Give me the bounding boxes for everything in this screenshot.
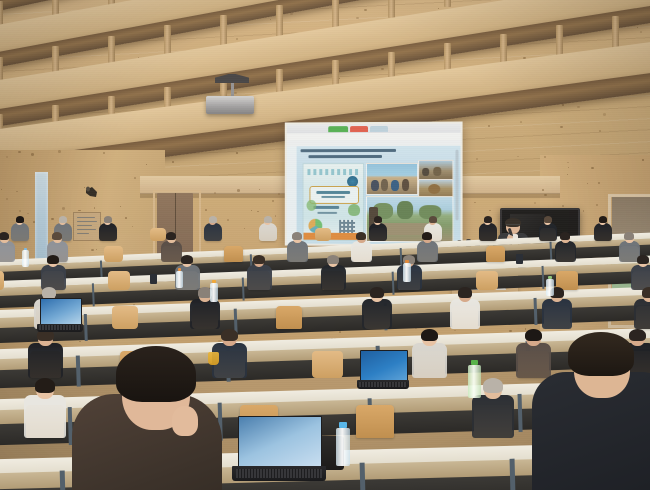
audience-torso: [24, 395, 67, 438]
slide-heading: [301, 149, 451, 160]
laptop-keyboard[interactable]: [39, 325, 81, 330]
projector: [206, 96, 254, 114]
poster-footer-band: [304, 233, 364, 240]
foreground-attendee-right-hair: [568, 332, 634, 376]
laptop-keyboard[interactable]: [359, 382, 408, 388]
slide-photo: [418, 160, 453, 180]
audience-hair: [166, 232, 176, 239]
audience-hair: [483, 378, 503, 393]
audience-hair: [429, 216, 437, 222]
poster-title-band: [309, 186, 359, 204]
audience-hair: [0, 232, 9, 239]
poster-tree-icon: [348, 204, 360, 216]
audience-hair: [42, 287, 56, 298]
audience-hair: [637, 255, 649, 264]
laptop-screen: [360, 350, 408, 382]
page-scrollbar[interactable]: [455, 150, 458, 221]
audience-hair: [599, 216, 607, 222]
poster-ribbon-icon: [307, 169, 359, 175]
smartphone[interactable]: [516, 254, 523, 264]
audience-hair: [421, 329, 438, 341]
audience-torso: [11, 223, 29, 241]
chair-backrest: [108, 271, 130, 290]
chair-backrest: [104, 246, 123, 262]
ceiling-rafter: [388, 0, 395, 18]
browser-tab[interactable]: [328, 126, 348, 132]
audience-torso: [516, 343, 551, 378]
chair-backrest: [312, 351, 343, 378]
bottle-body: [468, 365, 481, 398]
audience-hair: [253, 255, 265, 264]
audience-torso: [204, 223, 222, 241]
audience-torso: [351, 241, 372, 262]
audience-torso: [0, 241, 15, 262]
audience-hair: [356, 232, 366, 239]
audience-hair: [35, 378, 55, 393]
audience-torso: [28, 343, 63, 378]
foreground-attendee-hair: [116, 346, 196, 402]
audience-torso: [479, 223, 497, 241]
poster-qr-code-icon: [339, 220, 355, 234]
browser-tab[interactable]: [350, 126, 368, 132]
audience-torso: [161, 241, 182, 262]
ceiling-rafter: [332, 0, 339, 28]
audience-hair: [16, 216, 24, 222]
browser-tab[interactable]: [370, 125, 388, 131]
laptop-screen: [40, 298, 82, 326]
audience-hair: [624, 232, 634, 239]
laptop-screen: [238, 416, 322, 468]
audience-hair: [525, 329, 542, 341]
chair-backrest: [486, 246, 505, 262]
chair-backrest: [476, 271, 498, 290]
audience-hair: [544, 216, 552, 222]
audience-torso: [190, 299, 220, 329]
bottle-body: [403, 263, 411, 282]
audience-hair: [642, 287, 650, 298]
chair-backrest: [112, 306, 138, 329]
audience-hair: [47, 255, 59, 264]
audience-torso: [634, 299, 650, 329]
audience-hair: [221, 329, 238, 341]
slide-photo: [366, 163, 418, 195]
wall-notice-sign: [73, 212, 101, 241]
audience-torso: [99, 223, 117, 241]
audience-torso: [259, 223, 277, 241]
audience-torso: [539, 223, 557, 241]
audience-torso: [594, 223, 612, 241]
page-sidebar: [287, 146, 297, 243]
drink-cup[interactable]: [208, 352, 219, 365]
audience-torso: [412, 343, 447, 378]
laptop-keyboard[interactable]: [236, 469, 323, 479]
audience-hair: [484, 216, 492, 222]
audience-hair: [292, 232, 302, 239]
loudspeaker-icon: [84, 185, 100, 201]
audience-hair: [104, 216, 112, 222]
audience-hair: [181, 255, 193, 264]
audience-torso: [247, 265, 272, 290]
audience-hair: [209, 216, 217, 222]
audience-torso: [472, 395, 515, 438]
audience-torso: [369, 223, 387, 241]
audience-hair: [370, 287, 384, 298]
audience-hair: [264, 216, 272, 222]
bottle-body: [22, 250, 29, 267]
ceiling-rafter: [276, 5, 283, 39]
poster-tree-icon: [306, 200, 316, 211]
chair-backrest: [224, 246, 243, 262]
chair-backrest: [315, 228, 331, 242]
poster-date-text: [313, 206, 339, 209]
foreground-attendee-hand: [172, 406, 198, 436]
bottle-body: [546, 279, 554, 296]
ceiling-rafter: [444, 0, 451, 7]
audience-torso: [321, 265, 346, 290]
chair-backrest: [276, 306, 302, 329]
audience-hair: [560, 232, 570, 239]
smartphone[interactable]: [150, 274, 157, 284]
chair-backrest: [0, 271, 4, 290]
audience-torso: [362, 299, 392, 329]
audience-hair: [374, 216, 382, 222]
audience-torso: [41, 265, 66, 290]
chair-backrest: [150, 228, 166, 242]
bottle-body: [210, 283, 218, 302]
audience-hair: [327, 255, 339, 264]
bottle-body: [336, 428, 350, 466]
audience-torso: [555, 241, 576, 262]
audience-torso: [417, 241, 438, 262]
audience-torso: [542, 299, 572, 329]
audience-hair: [629, 329, 646, 341]
audience-hair: [422, 232, 432, 239]
audience-torso: [450, 299, 480, 329]
audience-hair: [458, 287, 472, 298]
audience-torso: [287, 241, 308, 262]
bottle-body: [176, 271, 183, 288]
audience-hair: [59, 216, 67, 222]
chair-backrest: [356, 405, 394, 438]
lecture-hall-photo: [0, 0, 650, 490]
slide-poster: [303, 163, 364, 241]
poster-detail-text: [317, 212, 337, 214]
audience-hair: [52, 232, 62, 239]
